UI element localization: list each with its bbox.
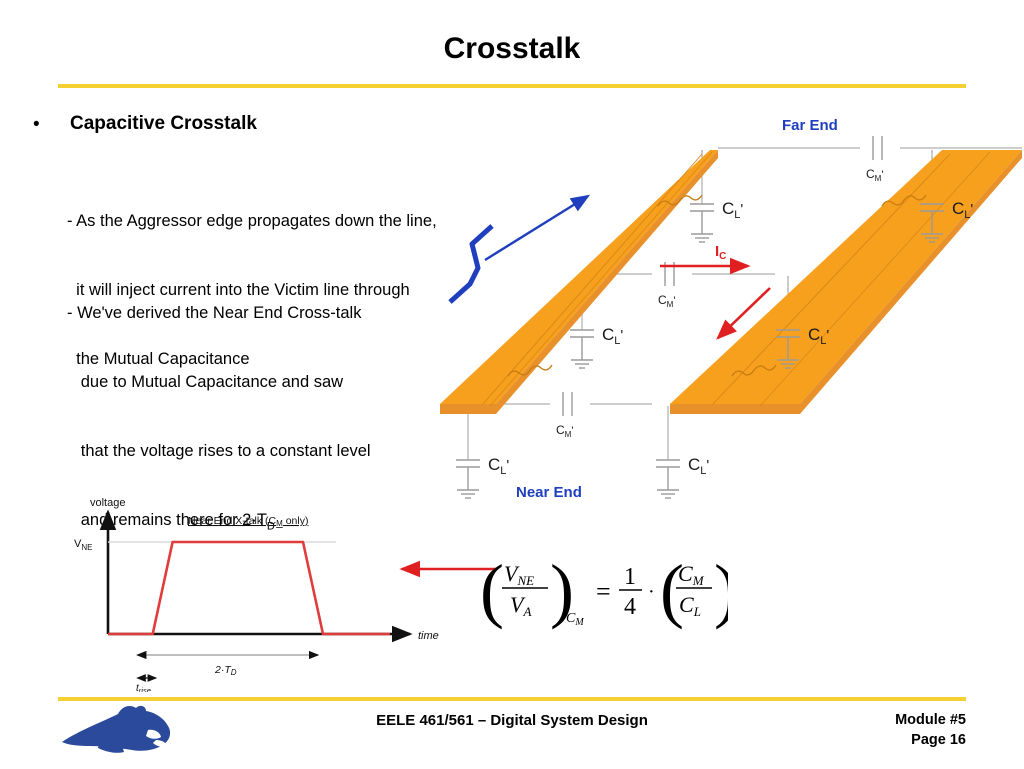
current-label: IC	[715, 243, 726, 262]
cm-label-far: CM'	[866, 167, 883, 183]
cl-label-mid-aggressor: CL'	[602, 325, 623, 347]
bullet-heading: Capacitive Crosstalk	[70, 113, 257, 135]
paragraph2-line1: - We've derived the Near End Cross-talk	[67, 302, 371, 325]
paragraph2-line2: due to Mutual Capacitance and saw	[67, 371, 371, 394]
x-axis-label: time	[418, 630, 439, 642]
far-end-label: Far End	[782, 117, 838, 134]
y-axis-label: voltage	[90, 497, 125, 509]
trise-label: trise	[136, 683, 151, 692]
footer-module: Module #5	[895, 710, 966, 730]
aggressor-edge-symbol	[450, 226, 492, 302]
cl-label-near-aggressor: CL'	[488, 455, 509, 477]
formula-dot: ·	[648, 581, 655, 603]
header-divider	[58, 84, 966, 88]
formula-one: 1	[624, 564, 636, 590]
paragraph1-line1: - As the Aggressor edge propagates down …	[67, 210, 437, 233]
crosstalk-waveform	[108, 542, 390, 634]
formula-va: VA	[510, 592, 531, 619]
bullet-marker: •	[33, 115, 40, 134]
formula-equals: =	[596, 577, 611, 606]
propagation-arrow	[485, 196, 588, 260]
paragraph2-line3: that the voltage rises to a constant lev…	[67, 440, 371, 463]
near-end-label: Near End	[516, 484, 582, 501]
formula-four: 4	[624, 594, 636, 620]
formula-cl: CL	[679, 592, 701, 619]
cl-label-far-victim: CL'	[952, 199, 973, 221]
footer-course: EELE 461/561 – Digital System Design	[0, 712, 1024, 729]
chart-title: Near End X-talk (CM only)	[188, 515, 308, 528]
td-span-label: 2·TD	[214, 664, 237, 677]
page-title: Crosstalk	[0, 32, 1024, 66]
cl-label-far-aggressor: CL'	[722, 199, 743, 221]
cl-label-mid-victim: CL'	[808, 325, 829, 347]
slide-root: Crosstalk • Capacitive Crosstalk - As th…	[0, 0, 1024, 768]
footer-divider	[58, 697, 966, 701]
formula-vne: VNE	[504, 561, 534, 588]
cm-label-near: CM'	[556, 423, 573, 439]
cl-label-near-victim: CL'	[688, 455, 709, 477]
coupled-line-diagram: CL' CL' CL' CL' CL' CL' CM' CM' CM' IC	[430, 108, 1024, 512]
victim-trace	[670, 150, 1022, 414]
footer-page: Page 16	[895, 730, 966, 750]
vne-tick-label: VNE	[74, 538, 92, 552]
near-end-waveform-chart: voltage time VNE Near End X-talk (CM onl…	[60, 492, 460, 692]
cm-label-mid: CM'	[658, 293, 675, 309]
formula-outer-subscript: CM	[566, 611, 584, 628]
aggressor-trace	[440, 150, 718, 414]
footer-module-page: Module #5 Page 16	[895, 710, 966, 750]
paren-left-open: (	[480, 550, 504, 630]
nearend-crosstalk-formula: ( ) VNE VA CM = 1 4 · ( ) CM	[478, 536, 728, 642]
formula-cm: CM	[678, 561, 705, 588]
paren-right-close: )	[714, 550, 728, 630]
